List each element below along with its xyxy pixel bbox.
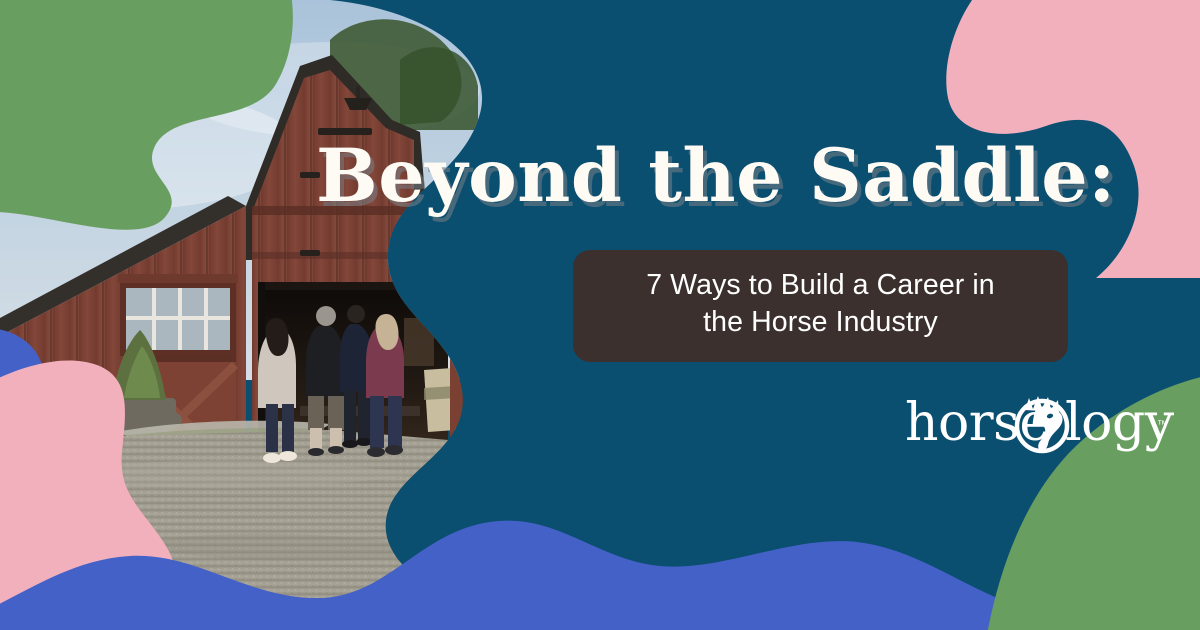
subtitle-line-2: the Horse Industry [703,306,938,338]
logo-trademark: ™ [1157,419,1168,431]
subtitle-box: 7 Ways to Build a Career in the Horse In… [573,250,1068,362]
blob-green-top-left [0,0,293,230]
subtitle-line-1: 7 Ways to Build a Career in [646,269,995,301]
logo-svg: horse logy ™ [905,390,1175,456]
subtitle-text: 7 Ways to Build a Career in the Horse In… [646,267,995,341]
share-graphic-canvas: Beyond the Saddle: 7 Ways to Build a Car… [0,0,1200,630]
page-title: Beyond the Saddle: [316,140,1106,213]
title-block: Beyond the Saddle: [316,140,1106,213]
horseology-logo[interactable]: horse logy ™ [905,390,1175,456]
